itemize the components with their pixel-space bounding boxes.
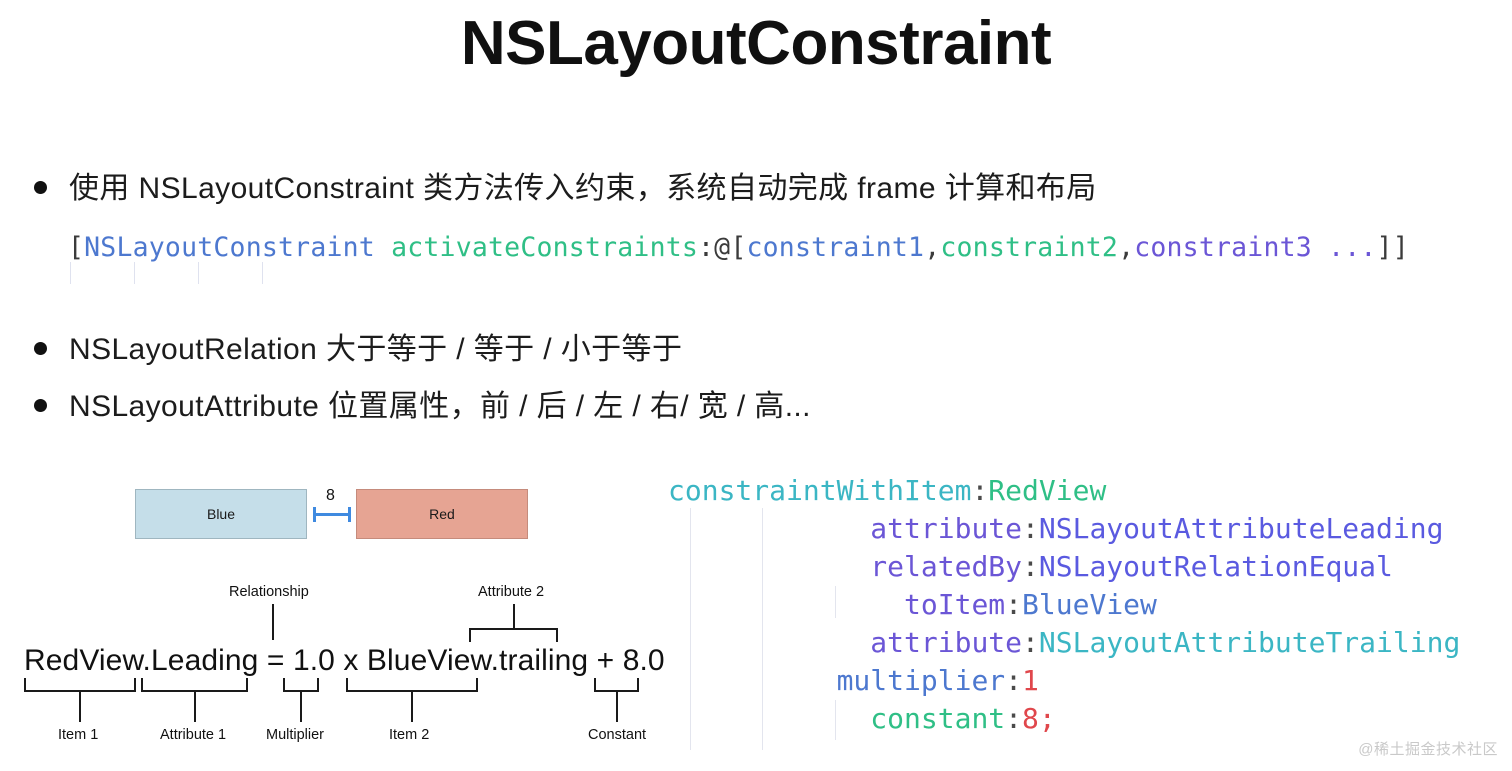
bullet-item-2: NSLayoutRelation 大于等于 / 等于 / 小于等于 <box>34 324 682 368</box>
bullet-item-1: 使用 NSLayoutConstraint 类方法传入约束，系统自动完成 fra… <box>34 163 1097 207</box>
indent-guide <box>198 262 199 284</box>
callout-label-attribute-1: Attribute 1 <box>160 727 226 743</box>
bracket-attribute-1-stem <box>194 690 196 722</box>
bracket-attribute-1-left <box>141 678 143 691</box>
callout-label-multiplier: Multiplier <box>266 727 324 743</box>
callout-bracket-attribute-2 <box>469 628 558 630</box>
code-token-key: multiplier <box>837 664 1006 697</box>
code-token-value: 1 <box>1022 664 1039 697</box>
code-indent <box>668 626 870 659</box>
code-token-colon: : <box>1005 664 1022 697</box>
code-token-class-name: NSLayoutConstraint <box>84 232 375 263</box>
bullet-label-3: NSLayoutAttribute 位置属性，前 / 后 / 左 / 右/ 宽 … <box>69 381 811 425</box>
red-view-box: Red <box>356 489 528 539</box>
code-token-open-bracket: [ <box>68 232 84 263</box>
indent-guide <box>70 262 71 284</box>
callout-label-relationship: Relationship <box>229 584 309 600</box>
code-snippet-constraint-with-item: constraintWithItem:RedView attribute:NSL… <box>668 472 1460 738</box>
code-token-value: NSLayoutRelationEqual <box>1039 550 1393 583</box>
bullet-label-2: NSLayoutRelation 大于等于 / 等于 / 小于等于 <box>69 324 682 368</box>
bracket-attribute-1-right <box>246 678 248 691</box>
bracket-item-1-right <box>134 678 136 691</box>
code-token-value: BlueView <box>1022 588 1157 621</box>
code-token-space <box>375 232 391 263</box>
code-token-ellipsis: ... <box>1312 232 1377 263</box>
constraint-formula: RedView.Leading = 1.0 x BlueView.trailin… <box>24 644 665 678</box>
code-line-3: relatedBy:NSLayoutRelationEqual <box>668 548 1460 586</box>
code-token-key: constraintWithItem <box>668 474 971 507</box>
code-line-5: attribute:NSLayoutAttributeTrailing <box>668 624 1460 662</box>
code-indent <box>668 702 870 735</box>
code-token-arg-2: constraint2 <box>940 232 1118 263</box>
callout-label-attribute-2: Attribute 2 <box>478 584 544 600</box>
bullet-dot-icon <box>34 342 47 355</box>
code-token-arg-3: constraint3 <box>1134 232 1312 263</box>
code-token-comma-1: , <box>924 232 940 263</box>
code-token-value: NSLayoutAttributeTrailing <box>1039 626 1460 659</box>
indent-guide <box>262 262 263 284</box>
bracket-constant-right <box>637 678 639 691</box>
bullet-label-1: 使用 NSLayoutConstraint 类方法传入约束，系统自动完成 fra… <box>69 163 1097 207</box>
code-token-colon: : <box>1005 588 1022 621</box>
blue-view-label: Blue <box>207 506 235 522</box>
page-title: NSLayoutConstraint <box>0 8 1512 79</box>
code-token-comma-2: , <box>1118 232 1134 263</box>
code-token-colon: : <box>1022 550 1039 583</box>
code-indent <box>668 512 870 545</box>
bracket-constant-stem <box>616 690 618 722</box>
code-line-7: constant:8; <box>668 700 1460 738</box>
code-snippet-activate-constraints: [NSLayoutConstraint activateConstraints:… <box>68 232 1409 263</box>
code-token-colon: : <box>1022 512 1039 545</box>
callout-bracket-left-attribute-2 <box>469 628 471 642</box>
code-indent <box>668 588 904 621</box>
bracket-item-2-right <box>476 678 478 691</box>
callout-label-item-1: Item 1 <box>58 727 98 743</box>
code-token-key: relatedBy <box>870 550 1022 583</box>
bracket-constant-left <box>594 678 596 691</box>
code-token-close-brackets: ]] <box>1377 232 1409 263</box>
code-indent <box>668 550 870 583</box>
callout-label-item-2: Item 2 <box>389 727 429 743</box>
code-token-key: constant <box>870 702 1005 735</box>
code-line-1: constraintWithItem:RedView <box>668 472 1460 510</box>
code-token-colon: : <box>1005 702 1022 735</box>
watermark: @稀土掘金技术社区 <box>1358 738 1498 759</box>
blue-view-box: Blue <box>135 489 307 539</box>
bracket-item-2-stem <box>411 690 413 722</box>
code-token-arg-1: constraint1 <box>747 232 925 263</box>
callout-bracket-right-attribute-2 <box>556 628 558 642</box>
red-view-label: Red <box>429 506 455 522</box>
spacing-measure-cap-right <box>348 507 351 522</box>
bullet-dot-icon <box>34 181 47 194</box>
code-token-key: toItem <box>904 588 1005 621</box>
code-token-value: RedView <box>988 474 1106 507</box>
code-token-colon: : <box>1022 626 1039 659</box>
code-token-key: attribute <box>870 626 1022 659</box>
bracket-multiplier-left <box>283 678 285 691</box>
callout-line-attribute-2 <box>513 604 515 629</box>
code-token-selector: activateConstraints <box>391 232 698 263</box>
code-token-key: attribute <box>870 512 1022 545</box>
bracket-item-1-stem <box>79 690 81 722</box>
bullet-item-3: NSLayoutAttribute 位置属性，前 / 后 / 左 / 右/ 宽 … <box>34 381 811 425</box>
code-line-6: multiplier:1 <box>668 662 1460 700</box>
bracket-item-1-left <box>24 678 26 691</box>
bracket-multiplier-right <box>317 678 319 691</box>
spacing-measure-cap-left <box>313 507 316 522</box>
callout-line-relationship <box>272 604 274 640</box>
code-token-colon: : <box>971 474 988 507</box>
code-line-4: toItem:BlueView <box>668 586 1460 624</box>
indent-guide <box>134 262 135 284</box>
code-indent <box>668 664 837 697</box>
callout-label-constant: Constant <box>588 727 646 743</box>
bracket-item-2-left <box>346 678 348 691</box>
code-token-value: NSLayoutAttributeLeading <box>1039 512 1444 545</box>
bracket-multiplier-stem <box>300 690 302 722</box>
spacing-measure-line <box>313 513 351 516</box>
code-line-2: attribute:NSLayoutAttributeLeading <box>668 510 1460 548</box>
code-token-value: 8; <box>1022 702 1056 735</box>
code-token-colon-at-bracket: :@[ <box>698 232 746 263</box>
bullet-dot-icon <box>34 399 47 412</box>
spacing-value-label: 8 <box>326 487 335 505</box>
